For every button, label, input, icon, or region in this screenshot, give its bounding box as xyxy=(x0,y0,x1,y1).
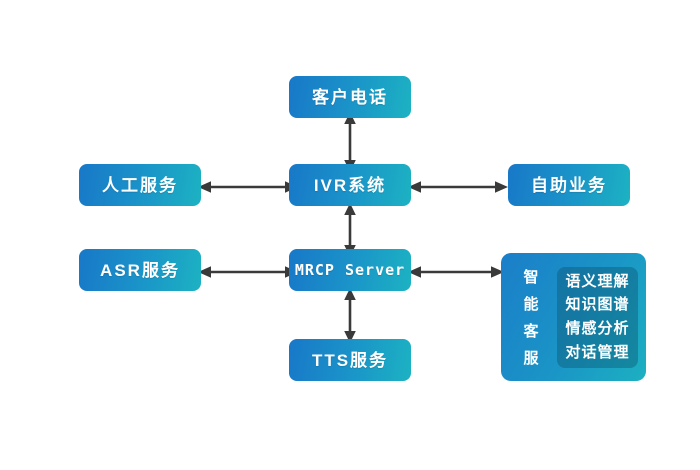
connector-mrcp-to-tts xyxy=(338,288,362,343)
smart-panel-vertical-char-0: 智 xyxy=(523,266,538,287)
smart-panel-vertical-char-3: 服 xyxy=(523,347,538,368)
connector-customer-phone-to-ivr xyxy=(338,112,362,172)
node-self-service-label: 自助业务 xyxy=(531,177,607,194)
node-ivr-system[interactable]: IVR系统 xyxy=(289,164,411,206)
node-tts-service[interactable]: TTS服务 xyxy=(289,339,411,381)
connector-ivr-to-self-service xyxy=(408,175,508,199)
node-ivr-system-label: IVR系统 xyxy=(314,177,386,194)
connector-agent-service-to-ivr xyxy=(198,175,298,199)
smart-panel-item-dialogue-management[interactable]: 对话管理 xyxy=(565,342,629,364)
smart-panel-vertical-char-1: 能 xyxy=(523,293,538,314)
connector-mrcp-to-smart-panel xyxy=(408,260,504,284)
node-agent-service-label: 人工服务 xyxy=(102,177,178,194)
diagram-canvas: 客户电话 人工服务 IVR系统 自助业务 ASR服务 MRCP Server T… xyxy=(0,0,700,470)
smart-panel-capability-list: 语义理解 知识图谱 情感分析 对话管理 xyxy=(557,267,638,368)
node-asr-service[interactable]: ASR服务 xyxy=(79,249,201,291)
connector-asr-to-mrcp xyxy=(198,260,298,284)
smart-panel-item-knowledge-graph[interactable]: 知识图谱 xyxy=(565,294,629,316)
smart-panel-vertical-label: 智 能 客 服 xyxy=(509,266,553,368)
node-customer-phone[interactable]: 客户电话 xyxy=(289,76,411,118)
node-mrcp-server[interactable]: MRCP Server xyxy=(289,249,411,291)
node-asr-service-label: ASR服务 xyxy=(100,262,180,279)
node-smart-customer-service-panel[interactable]: 智 能 客 服 语义理解 知识图谱 情感分析 对话管理 xyxy=(501,253,646,381)
smart-panel-item-sentiment-analysis[interactable]: 情感分析 xyxy=(565,318,629,340)
smart-panel-item-semantic-understanding[interactable]: 语义理解 xyxy=(565,271,629,293)
smart-panel-vertical-char-2: 客 xyxy=(523,320,538,341)
node-agent-service[interactable]: 人工服务 xyxy=(79,164,201,206)
node-tts-service-label: TTS服务 xyxy=(312,352,388,369)
node-customer-phone-label: 客户电话 xyxy=(312,89,388,106)
node-mrcp-server-label: MRCP Server xyxy=(295,263,405,278)
node-self-service[interactable]: 自助业务 xyxy=(508,164,630,206)
